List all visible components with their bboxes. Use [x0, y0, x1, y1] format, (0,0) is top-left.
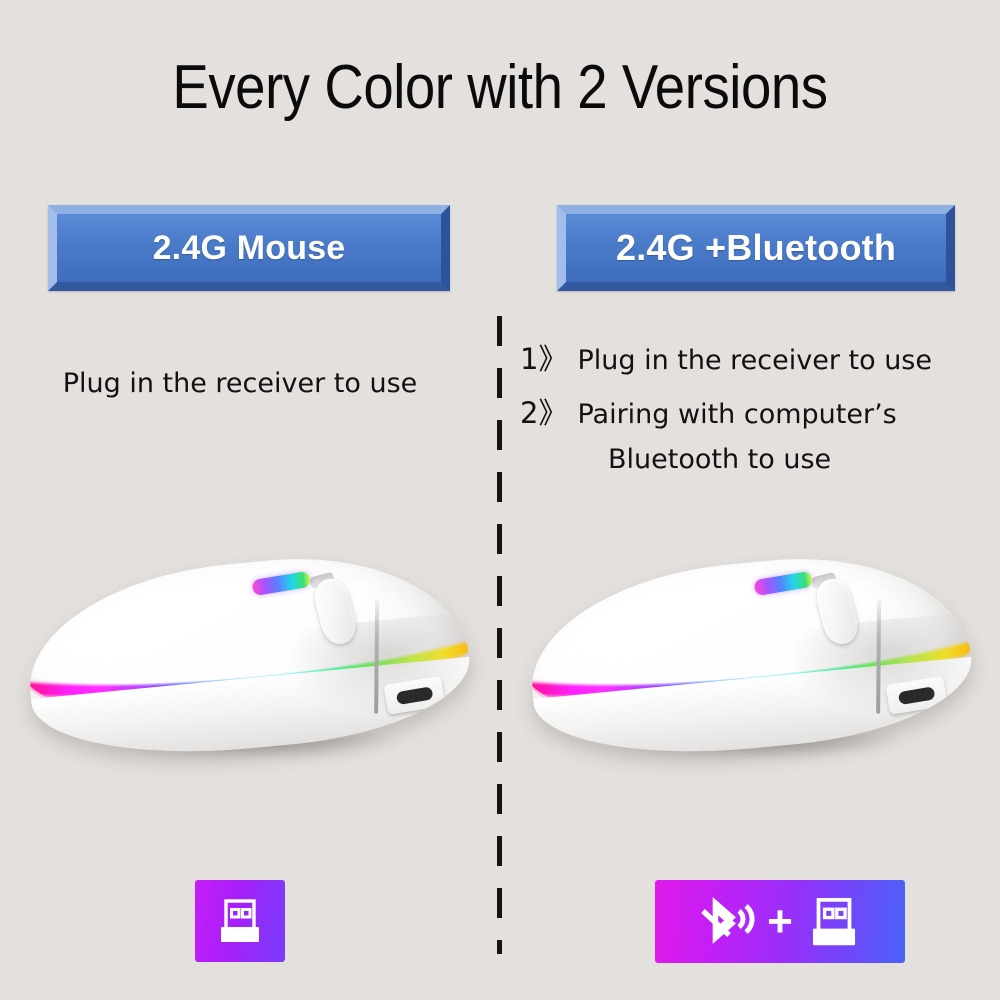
- step-text-continuation: Bluetooth to use: [520, 444, 990, 475]
- version-badge-bluetooth-label: 2.4G +Bluetooth: [616, 227, 896, 269]
- usb-receiver-tile: [195, 880, 285, 962]
- mouse-button-split-line: [374, 599, 379, 714]
- step-marker: 2》: [520, 390, 567, 432]
- list-item: 1》 Plug in the receiver to use: [520, 336, 990, 378]
- product-feature-graphic: Every Color with 2 Versions 2.4G Mouse 2…: [0, 0, 1000, 1000]
- column-divider: [497, 316, 502, 954]
- version-badge-bluetooth: 2.4G +Bluetooth: [557, 205, 955, 291]
- version-badge-24g-label: 2.4G Mouse: [153, 229, 346, 268]
- version-badge-24g: 2.4G Mouse: [48, 205, 450, 291]
- step-text: Plug in the receiver to use: [577, 345, 932, 376]
- plus-icon: +: [767, 900, 793, 944]
- usb-receiver-icon: [803, 891, 865, 953]
- list-item: 2》 Pairing with computer’s: [520, 390, 990, 432]
- step-marker: 1》: [520, 336, 567, 378]
- page-title: Every Color with 2 Versions: [60, 52, 940, 123]
- left-instruction-text: Plug in the receiver to use: [0, 368, 480, 399]
- bluetooth-plus-usb-tile: +: [655, 880, 905, 963]
- right-instruction-list: 1》 Plug in the receiver to use 2》 Pairin…: [520, 336, 990, 475]
- mouse-button-split-line: [876, 599, 881, 714]
- usb-receiver-icon: [212, 893, 268, 949]
- bluetooth-icon: [695, 891, 757, 953]
- step-text: Pairing with computer’s: [577, 399, 896, 430]
